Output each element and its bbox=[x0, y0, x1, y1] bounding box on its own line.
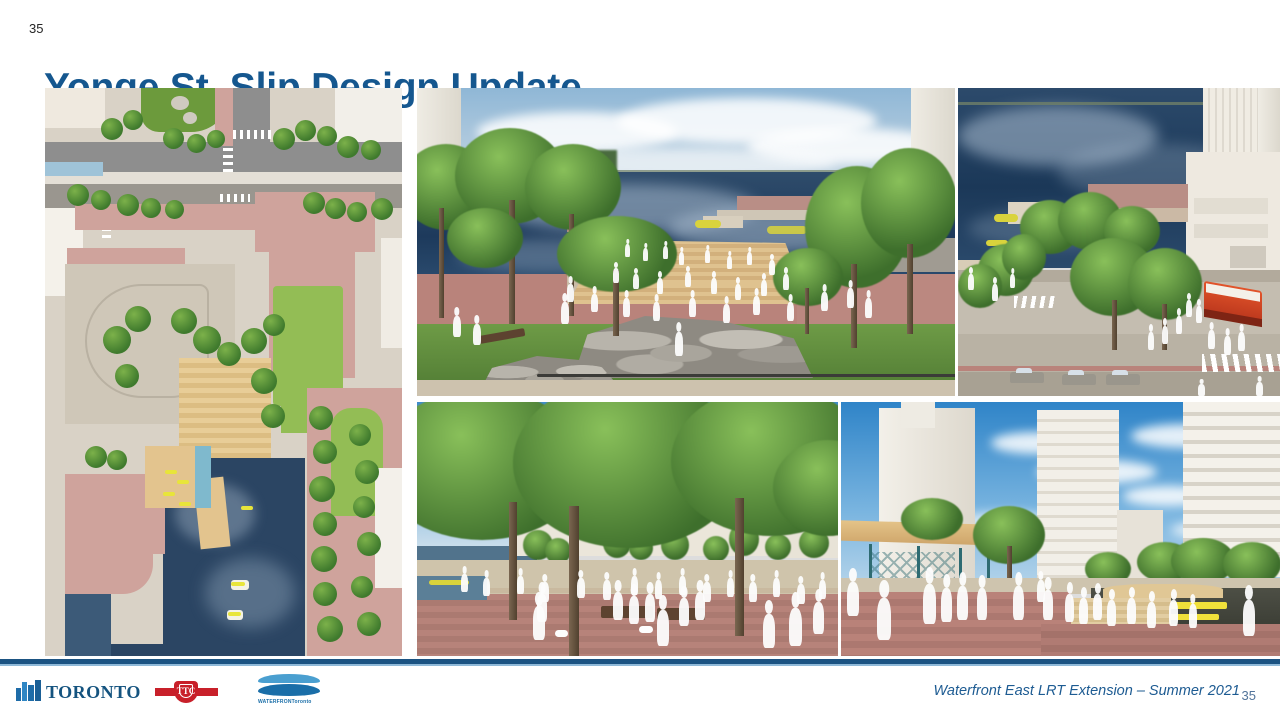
pavilion-eye-level-rendering bbox=[841, 402, 1280, 656]
waterfront-toronto-logo: WATERFRONToronto bbox=[258, 674, 324, 710]
city-of-toronto-logo: TORONTO bbox=[16, 680, 141, 701]
page-number: 35 bbox=[1242, 688, 1256, 703]
slide-number-top: 35 bbox=[29, 22, 43, 35]
ttc-monogram: TTC bbox=[177, 686, 196, 696]
promenade-eye-level-rendering bbox=[417, 402, 838, 656]
footer-project-note: Waterfront East LRT Extension – Summer 2… bbox=[933, 683, 1240, 699]
footer-divider-accent bbox=[0, 664, 1280, 666]
toronto-buildings-icon bbox=[16, 680, 42, 701]
ttc-shield-icon: TTC bbox=[174, 681, 198, 703]
street-aerial-perspective-rendering bbox=[958, 88, 1280, 396]
plaza-aerial-perspective-rendering bbox=[417, 88, 955, 396]
waterfront-wave-icon-bottom bbox=[258, 684, 320, 696]
aerial-plan-rendering bbox=[45, 88, 402, 656]
waterfront-wave-icon-top bbox=[258, 674, 320, 683]
slide-canvas: 35 Yonge St. Slip Design Update bbox=[0, 0, 1280, 720]
ttc-logo: TTC bbox=[155, 681, 217, 703]
waterfront-toronto-wordmark: WATERFRONToronto bbox=[258, 699, 312, 705]
toronto-wordmark: TORONTO bbox=[46, 684, 141, 701]
